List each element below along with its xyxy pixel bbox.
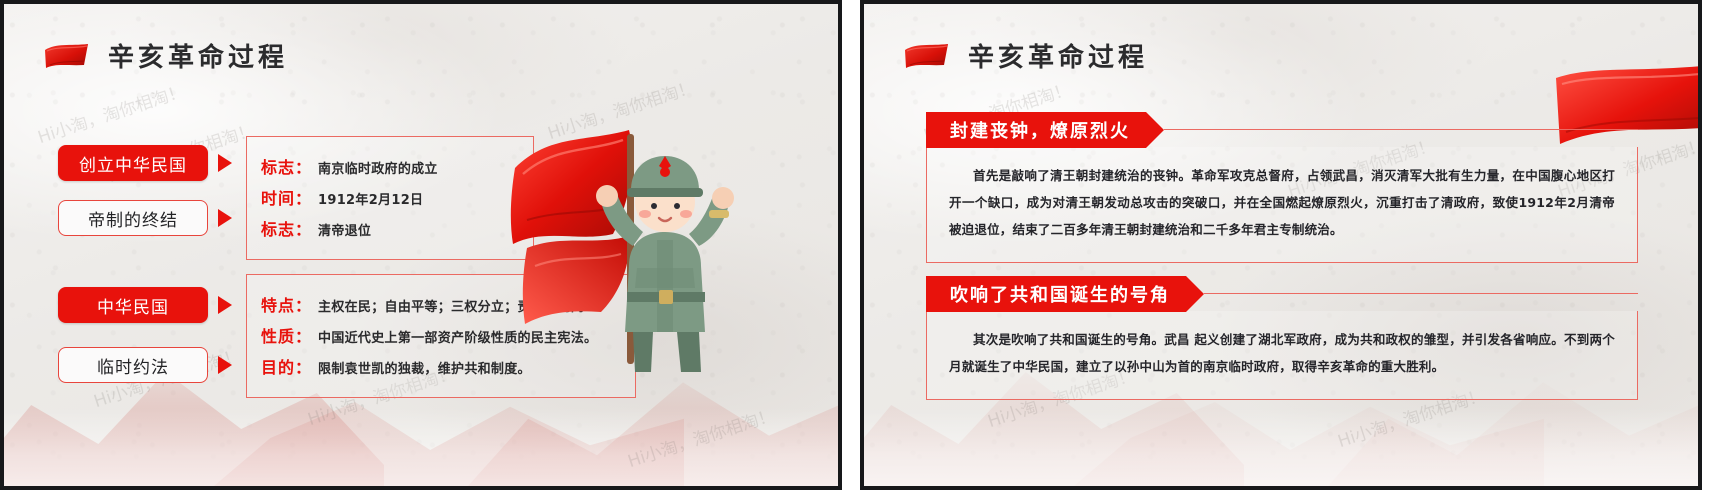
page-title-text: 辛亥革命过程 xyxy=(968,37,1148,74)
detail-key: 时间： xyxy=(261,185,312,209)
banner-row: 吹响了共和国诞生的号角 xyxy=(926,276,1638,312)
slide-deck: Hi小淘，淘你相淘！ Hi小淘，淘你相淘！ Hi小淘，淘你相淘！ Hi小淘，淘你… xyxy=(0,0,1720,490)
chip-label[interactable]: 创立中华民国 xyxy=(58,145,208,181)
content-block-1: 封建丧钟，燎原烈火 首先是敲响了清王朝封建统治的丧钟。革命军攻克总督府，占领武昌… xyxy=(926,112,1638,263)
page-title-text: 辛亥革命过程 xyxy=(108,37,288,74)
content-block-2: 吹响了共和国诞生的号角 其次是吹响了共和国诞生的号角。武昌 起义创建了湖北军政府… xyxy=(926,276,1638,400)
watermark: Hi小淘，淘你相淘！ xyxy=(624,401,778,472)
detail-key: 特点： xyxy=(261,292,312,316)
banner-rule xyxy=(1164,129,1638,130)
triangle-pointer-icon xyxy=(218,209,232,227)
detail-value: 清帝退位 xyxy=(318,220,371,239)
tag-row-end-of-monarchy[interactable]: 帝制的终结 xyxy=(58,200,232,236)
slide-gutter xyxy=(842,0,860,490)
tag-row-create-roc[interactable]: 创立中华民国 xyxy=(58,145,232,181)
red-flag-icon xyxy=(44,41,90,71)
detail-value: 限制袁世凯的独裁，维护共和制度。 xyxy=(318,358,531,377)
slide-left: Hi小淘，淘你相淘！ Hi小淘，淘你相淘！ Hi小淘，淘你相淘！ Hi小淘，淘你… xyxy=(0,0,842,490)
chip-label[interactable]: 帝制的终结 xyxy=(58,200,208,236)
page-title: 辛亥革命过程 xyxy=(904,37,1148,74)
block-banner-1: 封建丧钟，燎原烈火 xyxy=(926,112,1164,148)
block-card-2: 其次是吹响了共和国诞生的号角。武昌 起义创建了湖北军政府，成为共和政权的雏型，并… xyxy=(926,311,1638,400)
detail-key: 标志： xyxy=(261,154,312,178)
tag-row-roc[interactable]: 中华民国 xyxy=(58,287,232,323)
red-flag-icon xyxy=(904,41,950,71)
page-title: 辛亥革命过程 xyxy=(44,37,288,74)
detail-row: 标志： 南京临时政府的成立 xyxy=(261,154,519,178)
slide-right: Hi小淘，淘你相淘！ Hi小淘，淘你相淘！ Hi小淘，淘你相淘！ Hi小淘，淘你… xyxy=(860,0,1702,490)
block-card-1: 首先是敲响了清王朝封建统治的丧钟。革命军攻克总督府，占领武昌，消灭清军大批有生力… xyxy=(926,147,1638,263)
block-banner-2: 吹响了共和国诞生的号角 xyxy=(926,276,1204,312)
detail-key: 性质： xyxy=(261,323,312,347)
chip-label[interactable]: 中华民国 xyxy=(58,287,208,323)
block-paragraph-1: 首先是敲响了清王朝封建统治的丧钟。革命军攻克总督府，占领武昌，消灭清军大批有生力… xyxy=(949,163,1615,244)
detail-key: 标志： xyxy=(261,216,312,240)
soldier-waving-flag-illustration xyxy=(509,116,759,376)
triangle-pointer-icon xyxy=(218,154,232,172)
banner-rule xyxy=(1204,293,1638,294)
watermark: Hi小淘，淘你相淘！ xyxy=(34,77,188,148)
banner-row: 封建丧钟，燎原烈火 xyxy=(926,112,1638,148)
chip-label[interactable]: 临时约法 xyxy=(58,347,208,383)
detail-row: 时间： 1912年2月12日 xyxy=(261,185,519,209)
tag-row-provisional-constitution[interactable]: 临时约法 xyxy=(58,347,232,383)
detail-panel-founding: 标志： 南京临时政府的成立 时间： 1912年2月12日 标志： 清帝退位 xyxy=(246,136,534,260)
detail-row: 标志： 清帝退位 xyxy=(261,216,519,240)
triangle-pointer-icon xyxy=(218,356,232,374)
detail-key: 目的： xyxy=(261,354,312,378)
detail-value: 南京临时政府的成立 xyxy=(318,158,438,177)
detail-value: 1912年2月12日 xyxy=(318,189,423,208)
triangle-pointer-icon xyxy=(218,296,232,314)
block-paragraph-2: 其次是吹响了共和国诞生的号角。武昌 起义创建了湖北军政府，成为共和政权的雏型，并… xyxy=(949,327,1615,381)
